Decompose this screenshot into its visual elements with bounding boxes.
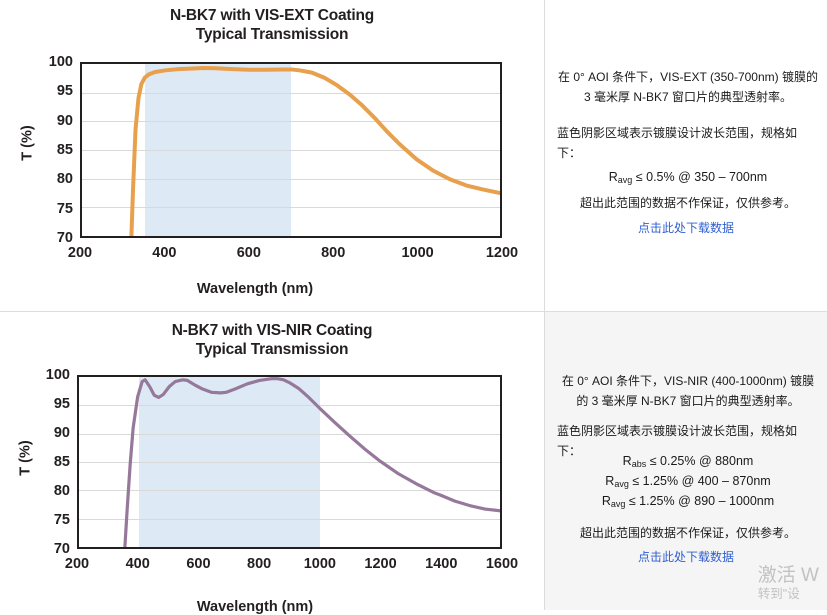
spec-subscript: avg [614, 479, 629, 489]
download-data-link-vis-nir[interactable]: 点击此处下载数据 [545, 548, 827, 565]
chart-title-line-2: Typical Transmission [0, 341, 544, 360]
description-pane-vis-nir: 在 0° AOI 条件下，VIS-NIR (400-1000nm) 镀膜的 3 … [545, 312, 827, 610]
spec-value: ≤ 0.25% @ 880nm [646, 454, 753, 468]
y-axis-label-vis-nir: T (%) [18, 440, 34, 475]
spec-list-vis-ext: Ravg ≤ 0.5% @ 350 – 700nm [545, 168, 827, 188]
x-axis-label-vis-ext: Wavelength (nm) [25, 281, 485, 297]
section-vis-ext: N-BK7 with VIS-EXT Coating Typical Trans… [0, 0, 827, 312]
watermark-line-2: 转到"设 [758, 587, 819, 602]
download-data-link-vis-ext[interactable]: 点击此处下载数据 [545, 219, 827, 236]
ytick-95: 95 [54, 396, 70, 412]
spec-value: ≤ 1.25% @ 890 – 1000nm [625, 494, 774, 508]
spec-symbol: R [609, 170, 618, 184]
spec-line: Rabs ≤ 0.25% @ 880nm [557, 452, 819, 472]
chart-title-vis-nir: N-BK7 with VIS-NIR Coating Typical Trans… [0, 312, 544, 360]
ytick-80: 80 [54, 483, 70, 499]
spec-subscript: abs [632, 459, 647, 469]
xtick-1400: 1400 [425, 556, 457, 572]
plot-area-vis-nir [77, 375, 502, 549]
chart-pane-vis-nir: N-BK7 with VIS-NIR Coating Typical Trans… [0, 312, 545, 610]
ytick-80: 80 [57, 171, 73, 187]
section-vis-nir: N-BK7 with VIS-NIR Coating Typical Trans… [0, 312, 827, 610]
spec-symbol: R [623, 454, 632, 468]
disclaimer-note-vis-nir: 超出此范围的数据不作保证，仅供参考。 [545, 524, 827, 543]
spec-symbol: R [602, 494, 611, 508]
ytick-100: 100 [46, 367, 70, 383]
chart-pane-vis-ext: N-BK7 with VIS-EXT Coating Typical Trans… [0, 0, 545, 311]
xtick-400: 400 [126, 556, 150, 572]
description-paragraph-2: 蓝色阴影区域表示镀膜设计波长范围，规格如下： [545, 124, 827, 164]
spec-value: ≤ 1.25% @ 400 – 870nm [629, 474, 771, 488]
ytick-70: 70 [54, 541, 70, 557]
description-paragraph-1: 在 0° AOI 条件下，VIS-NIR (400-1000nm) 镀膜的 3 … [545, 372, 827, 412]
description-paragraph-1: 在 0° AOI 条件下，VIS-EXT (350-700nm) 镀膜的 3 毫… [545, 68, 827, 108]
disclaimer-note-vis-ext: 超出此范围的数据不作保证，仅供参考。 [545, 194, 827, 213]
spec-line: Ravg ≤ 1.25% @ 890 – 1000nm [557, 492, 819, 512]
y-axis-label-vis-ext: T (%) [20, 125, 36, 160]
ytick-70: 70 [57, 230, 73, 246]
spec-value: ≤ 0.5% @ 350 – 700nm [632, 170, 767, 184]
windows-activation-watermark: 激活 W 转到"设 [758, 565, 819, 602]
xtick-400: 400 [152, 245, 176, 261]
ytick-100: 100 [49, 54, 73, 70]
ytick-90: 90 [57, 113, 73, 129]
spec-list-vis-nir: Rabs ≤ 0.25% @ 880nm Ravg ≤ 1.25% @ 400 … [545, 452, 827, 512]
xtick-600: 600 [186, 556, 210, 572]
xtick-1000: 1000 [304, 556, 336, 572]
ytick-75: 75 [54, 512, 70, 528]
spec-subscript: avg [611, 499, 626, 509]
ytick-90: 90 [54, 425, 70, 441]
transmission-curve-vis-ext [82, 64, 500, 236]
plot-wrap-vis-nir: 100 95 90 85 80 75 70 200 400 600 800 10… [77, 375, 502, 549]
plot-area-vis-ext [80, 62, 502, 238]
chart-title-line-1: N-BK7 with VIS-EXT Coating [0, 7, 544, 26]
xtick-800: 800 [247, 556, 271, 572]
xtick-1200: 1200 [364, 556, 396, 572]
spec-subscript: avg [618, 175, 633, 185]
xtick-200: 200 [65, 556, 89, 572]
xtick-600: 600 [237, 245, 261, 261]
watermark-line-1: 激活 W [758, 565, 819, 587]
spec-line: Ravg ≤ 0.5% @ 350 – 700nm [557, 168, 819, 188]
chart-title-line-2: Typical Transmission [0, 26, 544, 45]
spec-symbol: R [605, 474, 614, 488]
ytick-95: 95 [57, 83, 73, 99]
xtick-800: 800 [321, 245, 345, 261]
xtick-1200: 1200 [486, 245, 518, 261]
description-pane-vis-ext: 在 0° AOI 条件下，VIS-EXT (350-700nm) 镀膜的 3 毫… [545, 0, 827, 311]
xtick-1600: 1600 [486, 556, 518, 572]
xtick-200: 200 [68, 245, 92, 261]
ytick-75: 75 [57, 201, 73, 217]
chart-title-line-1: N-BK7 with VIS-NIR Coating [0, 322, 544, 341]
xtick-1000: 1000 [401, 245, 433, 261]
chart-title-vis-ext: N-BK7 with VIS-EXT Coating Typical Trans… [0, 0, 544, 45]
ytick-85: 85 [54, 454, 70, 470]
x-axis-label-vis-nir: Wavelength (nm) [25, 599, 485, 615]
spec-line: Ravg ≤ 1.25% @ 400 – 870nm [557, 472, 819, 492]
ytick-85: 85 [57, 142, 73, 158]
transmission-curve-vis-nir [79, 377, 500, 547]
plot-wrap-vis-ext: 100 95 90 85 80 75 70 200 400 600 800 10… [80, 62, 502, 238]
